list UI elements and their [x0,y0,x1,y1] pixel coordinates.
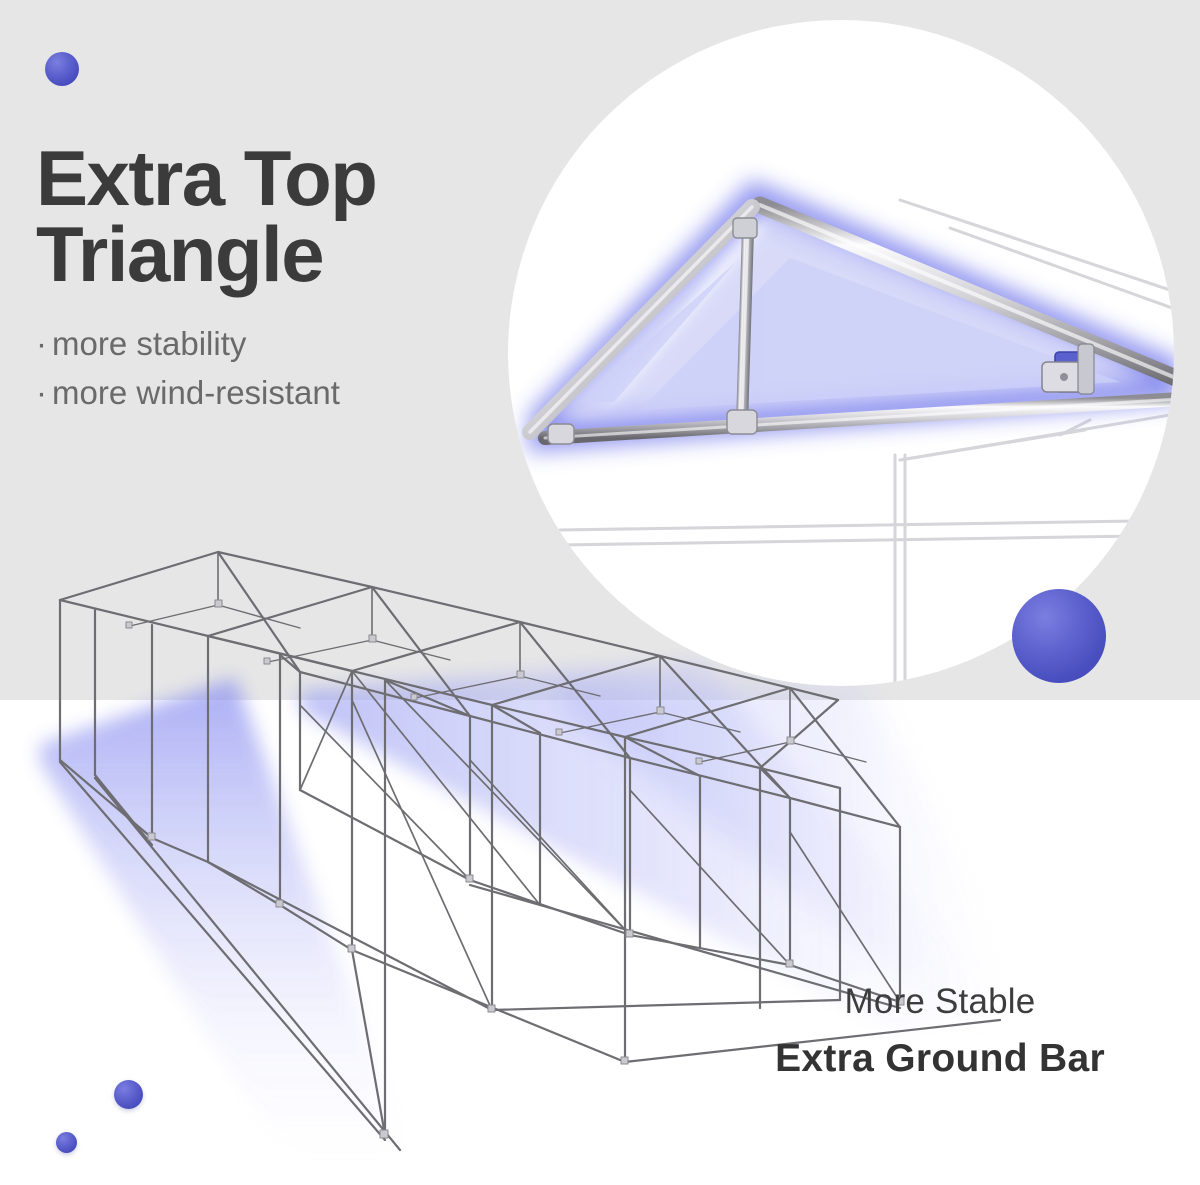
bottom-caption-sub: More Stable [700,980,1180,1024]
apex-triangle-detail-illustration [508,20,1174,686]
blue-sphere-small-lower-2 [56,1132,77,1153]
detail-callout-circle [508,20,1174,686]
headline-line-2: Triangle [36,216,506,292]
blue-sphere-large-right [1012,589,1106,683]
blue-sphere-top-left [45,52,79,86]
feature-list: ·more stability ·more wind-resistant [36,320,506,418]
feature-label: more wind-resistant [52,374,340,411]
list-item: ·more wind-resistant [36,369,506,418]
bullet-dot-icon: · [36,320,52,369]
list-item: ·more stability [36,320,506,369]
headline: Extra Top Triangle [36,140,506,293]
product-feature-graphic: Extra Top Triangle ·more stability ·more… [0,0,1200,1185]
blue-sphere-small-lower-1 [114,1080,143,1109]
bullet-dot-icon: · [36,369,52,418]
headline-line-1: Extra Top [36,134,376,222]
bottom-caption-main: Extra Ground Bar [700,1036,1180,1082]
feature-label: more stability [52,325,246,362]
bottom-caption: More Stable Extra Ground Bar [700,980,1180,1082]
background-bottom-band [0,700,1200,1185]
